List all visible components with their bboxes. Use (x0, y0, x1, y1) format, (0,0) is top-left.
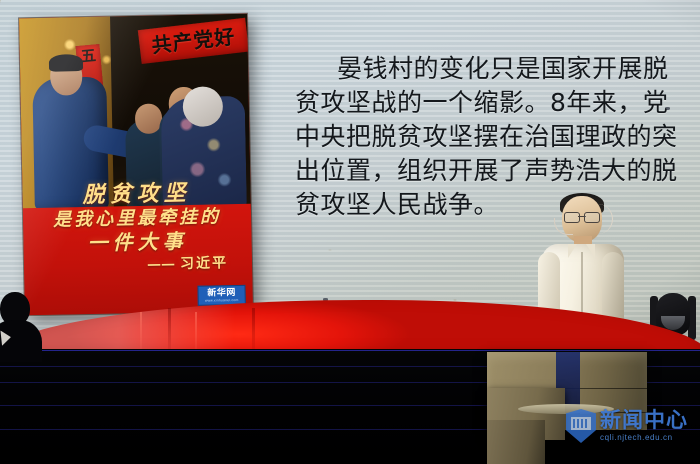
headset-microphone-icon (554, 218, 573, 235)
speaker-collar-right (586, 244, 595, 258)
shield-bars (573, 419, 589, 428)
xinhuanet-logo-url: www.xinhuanet.com (205, 297, 239, 303)
watermark: 新闻中心 cqli.njtech.edu.cn (566, 405, 694, 447)
watermark-text: 新闻中心 cqli.njtech.edu.cn (600, 410, 688, 442)
slide-line-2: 贫攻坚战的一个缩影。8年来，党 (295, 86, 690, 120)
poster-villager-a-head (135, 103, 163, 134)
slide-line-1: 晏钱村的变化只是国家开展脱 (295, 52, 690, 86)
propaganda-poster: 五 共产党好 脱贫攻坚 是我心里最牵挂的 一件大事 ——习近平 新华网 www.… (19, 14, 253, 316)
screenshot-root: 晏钱村的变化只是国家开展脱 贫攻坚战的一个缩影。8年来，党 中央把脱贫攻坚摆在治… (0, 0, 700, 464)
audience-silhouette (0, 292, 42, 362)
stage-accent-line (0, 350, 700, 351)
poster-calligraphy: 脱贫攻坚 是我心里最牵挂的 一件大事 ——习近平 (22, 180, 252, 278)
headset-band (598, 204, 613, 234)
slide-line-3: 中央把脱贫攻坚摆在治国理政的突 (295, 120, 690, 154)
poster-signature-dash: —— (147, 257, 175, 274)
poster-signature-name: 习近平 (180, 255, 228, 272)
slide-line-4: 出位置，组织开展了声势浩大的脱 (295, 154, 690, 188)
watermark-url: cqli.njtech.edu.cn (600, 434, 688, 442)
xinhuanet-logo-text: 新华网 (207, 288, 236, 299)
speaker-collar-left (568, 244, 577, 258)
university-shield-icon (566, 409, 596, 443)
stage-step-lower (487, 420, 545, 464)
watermark-brand: 新闻中心 (600, 410, 688, 431)
poster-leader-hair (49, 54, 83, 72)
